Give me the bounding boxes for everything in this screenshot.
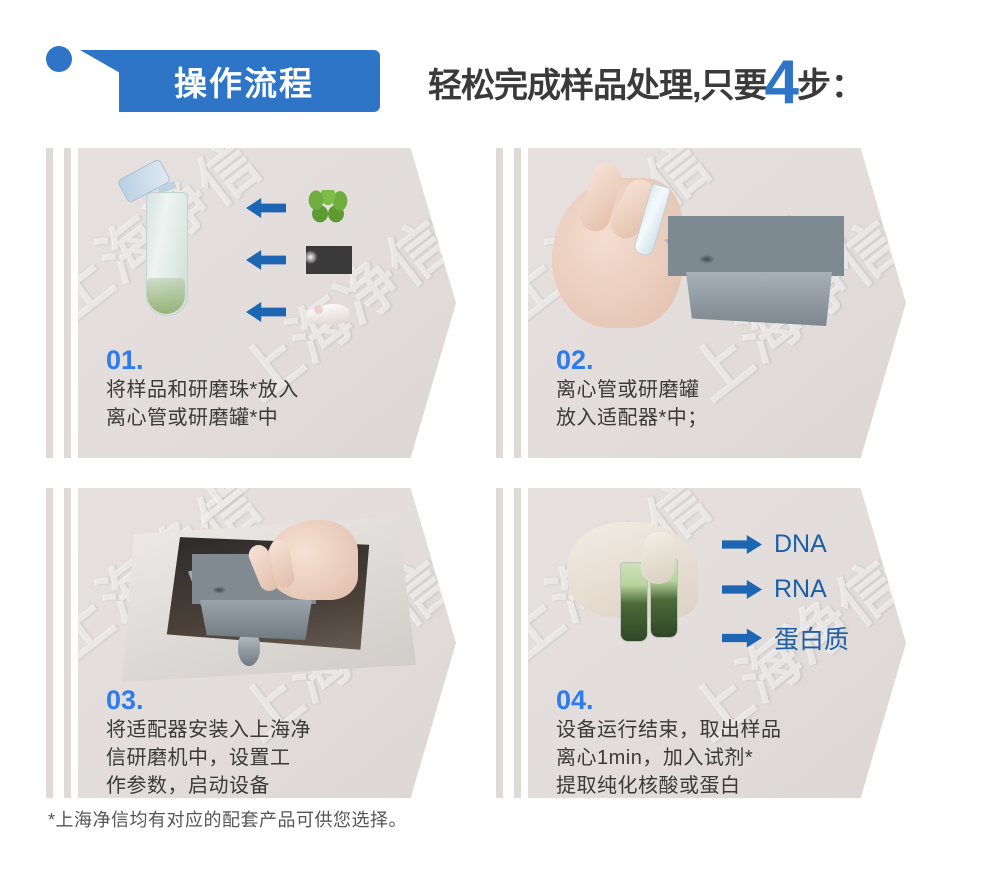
footnote: *上海净信均有对应的配套产品可供您选择。 [48,806,407,832]
output-label: DNA [774,530,827,559]
section-banner-label: 操作流程 [80,50,380,112]
sample-row-beads [246,240,354,280]
step-caption: 03. 将适配器安装入上海净 信研磨机中，设置工 作参数，启动设备 [106,686,396,798]
output-label: RNA [774,575,827,604]
step-number: 02. [556,346,846,374]
headline-step-count: 4 [764,58,798,108]
accent-bar [64,148,71,458]
sample-row-plant [246,188,354,228]
step-number: 04. [556,686,846,714]
page-header: 操作流程 轻松完成样品处理,只要 4 步： [0,0,1000,140]
step-illustration-01 [96,160,436,350]
right-arrow-icon [722,535,762,554]
output-row-dna: DNA [722,530,849,559]
right-arrow-icon [722,580,762,599]
step-card-body: 上海净信 上海净信 [78,148,456,458]
step-description: 设备运行结束，取出样品 离心1min，加入试剂* 提取纯化核酸或蛋白 [556,717,846,798]
accent-bar [514,148,521,458]
steps-grid: 上海净信 上海净信 [0,140,1000,790]
grinding-beads-icon [304,240,354,280]
sample-row-animal [246,292,354,332]
left-arrow-icon [246,198,286,218]
step-number: 03. [106,686,396,714]
step-illustration-03 [96,500,436,690]
accent-bar [46,488,53,798]
step-illustration-04: DNA RNA 蛋白质 [546,500,886,690]
step-card-body: 上海净信 上海净信 上海净信 03. 将适配器安装入上海净 信研磨机中，设置工 … [78,488,456,798]
step-illustration-02 [546,160,886,350]
step-caption: 04. 设备运行结束，取出样品 离心1min，加入试剂* 提取纯化核酸或蛋白 [556,686,846,798]
left-arrow-icon [246,302,286,322]
step-card-03: 上海净信 上海净信 上海净信 03. 将适配器安装入上海净 信研磨机中，设置工 … [46,488,456,798]
headline-tail-text: 步： [797,58,865,107]
mouse-icon [304,292,354,332]
adapter-block-face [686,272,832,326]
headline-main-text: 轻松完成样品处理,只要 [428,58,766,107]
step-card-01: 上海净信 上海净信 [46,148,456,458]
output-row-rna: RNA [722,575,849,604]
step-card-body: 上海净信 上海净信 02. 离心管或研磨罐 放入适配器*中； [528,148,906,458]
step-card-body: 上海净信 上海净信 DNA RNA [528,488,906,798]
centrifuge-tube-icon [132,170,204,330]
step-card-02: 上海净信 上海净信 02. 离心管或研磨罐 放入适配器*中； [496,148,906,458]
leaf-icon [304,188,354,228]
adapter-block-holes [668,216,844,276]
output-label: 蛋白质 [774,620,849,656]
step-description: 将适配器安装入上海净 信研磨机中，设置工 作参数，启动设备 [106,717,396,798]
output-row-protein: 蛋白质 [722,620,849,656]
page-headline: 轻松完成样品处理,只要 4 步： [428,52,865,114]
step-description: 离心管或研磨罐 放入适配器*中； [556,377,846,432]
accent-bar [46,148,53,458]
dot-icon [46,46,72,72]
step-number: 01. [106,346,396,374]
step-description: 将样品和研磨珠*放入 离心管或研磨罐*中 [106,377,396,432]
left-arrow-icon [246,250,286,270]
step-caption: 01. 将样品和研磨珠*放入 离心管或研磨罐*中 [106,346,396,433]
accent-bar [496,488,503,798]
output-list: DNA RNA 蛋白质 [722,530,849,656]
accent-bar [514,488,521,798]
right-arrow-icon [722,629,762,648]
accent-bar [64,488,71,798]
accent-bar [496,148,503,458]
step-card-04: 上海净信 上海净信 DNA RNA [496,488,906,798]
adapter-block-face [200,600,312,640]
step-caption: 02. 离心管或研磨罐 放入适配器*中； [556,346,846,433]
